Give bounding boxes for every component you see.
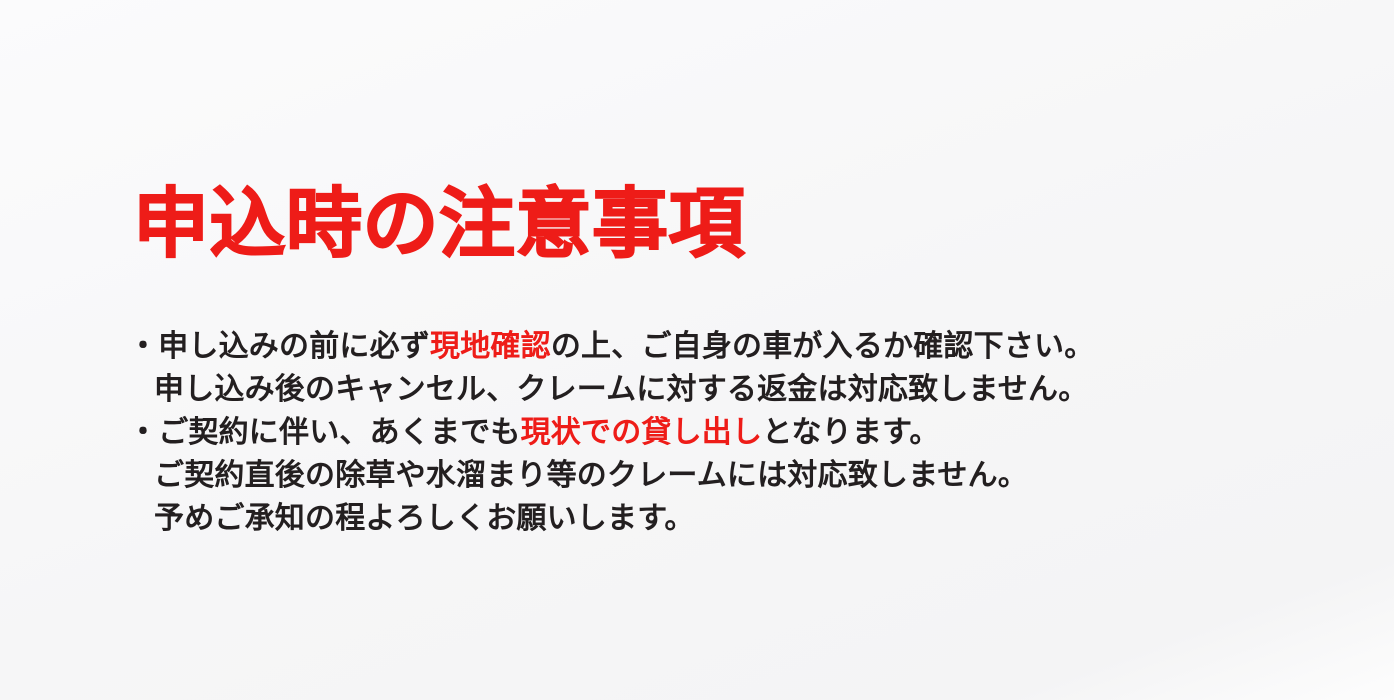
slide-title: 申込時の注意事項 xyxy=(133,182,745,268)
slide-content: 申込時の注意事項 ・申し込みの前に必ず現地確認の上、ご自身の車が入るか確認下さい… xyxy=(0,0,1394,700)
bullet-marker: ・ xyxy=(128,416,158,449)
body-line: 予めご承知の程よろしくお願いします。 xyxy=(128,497,1168,540)
presentation-slide: 申込時の注意事項 ・申し込みの前に必ず現地確認の上、ご自身の車が入るか確認下さい… xyxy=(0,0,1394,700)
body-text: 申し込みの前に必ず xyxy=(158,330,430,363)
bullet-marker: ・ xyxy=(128,330,158,363)
body-line: 申し込み後のキャンセル、クレームに対する返金は対応致しません。 xyxy=(128,368,1168,411)
body-line: ・申し込みの前に必ず現地確認の上、ご自身の車が入るか確認下さい。 xyxy=(128,325,1168,368)
slide-body-list: ・申し込みの前に必ず現地確認の上、ご自身の車が入るか確認下さい。申し込み後のキャ… xyxy=(128,325,1168,540)
body-line: ご契約直後の除草や水溜まり等のクレームには対応致しません。 xyxy=(128,454,1168,497)
highlighted-text: 現状での貸し出し xyxy=(521,416,763,449)
body-text: ご契約に伴い、あくまでも xyxy=(158,416,520,449)
body-text: 申し込み後のキャンセル、クレームに対する返金は対応致しません。 xyxy=(154,373,1088,406)
body-text: の上、ご自身の車が入るか確認下さい。 xyxy=(551,330,1095,363)
body-text: となります。 xyxy=(762,416,939,449)
body-text: 予めご承知の程よろしくお願いします。 xyxy=(154,502,695,535)
highlighted-text: 現地確認 xyxy=(430,330,551,363)
body-text: ご契約直後の除草や水溜まり等のクレームには対応致しません。 xyxy=(154,459,1028,492)
body-line: ・ご契約に伴い、あくまでも現状での貸し出しとなります。 xyxy=(128,411,1168,454)
